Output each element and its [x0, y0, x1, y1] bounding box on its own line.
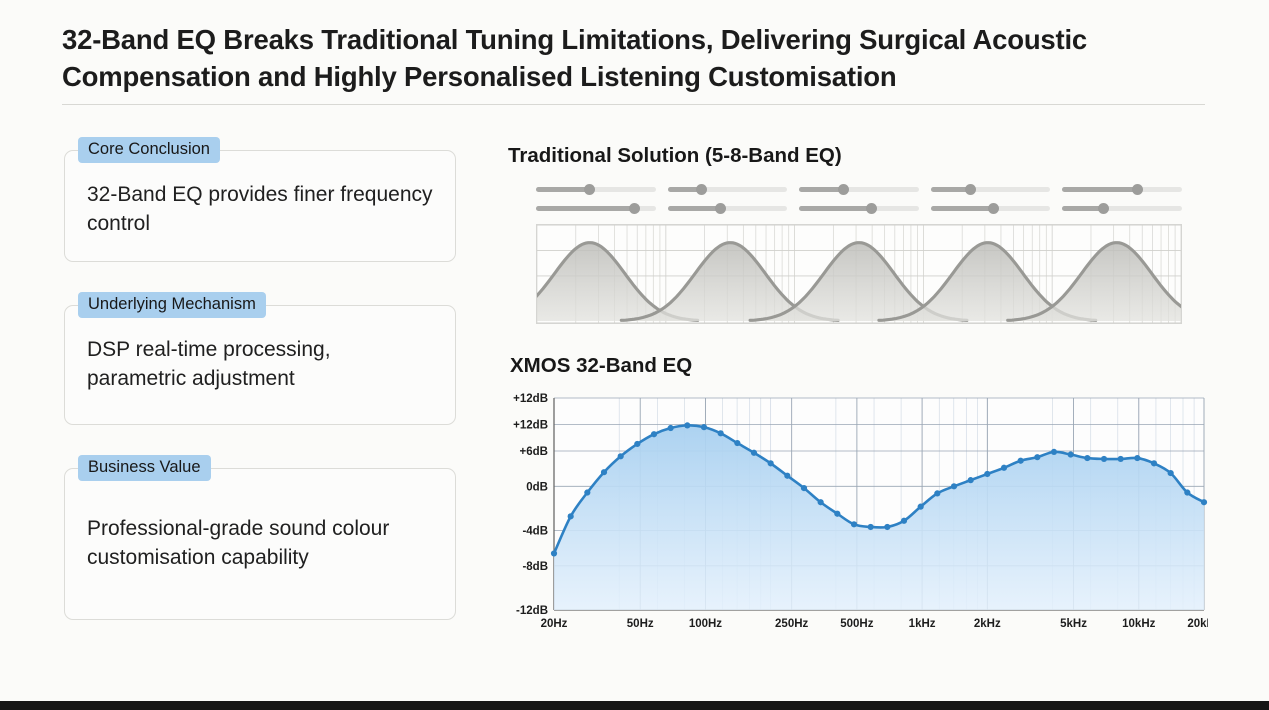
eq-slider-4-top[interactable] [931, 186, 1051, 193]
slider-fill [668, 206, 721, 211]
card-body-business-value: Professional-grade sound colour customis… [64, 468, 456, 620]
eq-band-point-19[interactable] [851, 521, 857, 527]
slide-root: 32-Band EQ Breaks Traditional Tuning Lim… [0, 0, 1269, 710]
card-body-core-conclusion: 32-Band EQ provides finer frequency cont… [64, 150, 456, 262]
eq-band-point-15[interactable] [784, 473, 790, 479]
page-title: 32-Band EQ Breaks Traditional Tuning Lim… [62, 22, 1202, 95]
eq-slider-5-bottom[interactable] [1062, 205, 1182, 212]
y-axis-tick-3: 0dB [526, 481, 548, 493]
slider-thumb[interactable] [715, 203, 726, 214]
slider-thumb[interactable] [1132, 184, 1143, 195]
eq-band-point-28[interactable] [1001, 465, 1007, 471]
slider-fill [1062, 187, 1136, 192]
eq-band-point-14[interactable] [768, 460, 774, 466]
slider-fill [931, 206, 993, 211]
eq-band-point-23[interactable] [918, 504, 924, 510]
card-text-core-conclusion: 32-Band EQ provides finer frequency cont… [87, 181, 433, 239]
eq-band-point-3[interactable] [584, 489, 590, 495]
card-body-underlying-mechanism: DSP real-time processing, parametric adj… [64, 305, 456, 425]
eq-band-point-1[interactable] [551, 550, 557, 556]
y-axis-tick-0: +12dB [513, 393, 548, 405]
eq-band-point-37[interactable] [1151, 460, 1157, 466]
x-axis-tick-6: 2kHz [974, 618, 1001, 630]
y-axis-tick-4: -4dB [522, 526, 548, 538]
eq-slider-rack [508, 186, 1208, 212]
x-axis-tick-2: 100Hz [689, 618, 722, 630]
eq-band-point-22[interactable] [901, 518, 907, 524]
eq-band-point-32[interactable] [1068, 451, 1074, 457]
xmos-eq-chart-svg: +12dB+12dB+6dB0dB-4dB-8dB-12dB20Hz50Hz10… [508, 390, 1208, 640]
eq-slider-group-2 [668, 186, 788, 212]
eq-band-point-25[interactable] [951, 483, 957, 489]
xmos-eq-title: XMOS 32-Band EQ [508, 354, 1208, 378]
slider-thumb[interactable] [629, 203, 640, 214]
y-axis-tick-6: -12dB [516, 605, 548, 617]
slider-thumb[interactable] [584, 184, 595, 195]
eq-slider-3-top[interactable] [799, 186, 919, 193]
eq-band-point-12[interactable] [734, 440, 740, 446]
slider-thumb[interactable] [965, 184, 976, 195]
x-axis-tick-5: 1kHz [909, 618, 936, 630]
card-badge-core-conclusion: Core Conclusion [78, 137, 220, 163]
eq-band-point-38[interactable] [1168, 470, 1174, 476]
y-axis-tick-2: +6dB [520, 446, 548, 458]
eq-band-point-33[interactable] [1084, 455, 1090, 461]
eq-band-point-35[interactable] [1118, 456, 1124, 462]
eq-band-point-11[interactable] [718, 430, 724, 436]
eq-band-point-36[interactable] [1134, 455, 1140, 461]
card-business-value: Business Value Professional-grade sound … [64, 468, 456, 620]
eq-band-point-39[interactable] [1184, 489, 1190, 495]
eq-band-point-6[interactable] [634, 441, 640, 447]
eq-slider-2-top[interactable] [668, 186, 788, 193]
title-divider [62, 104, 1205, 105]
eq-band-point-9[interactable] [684, 422, 690, 428]
eq-band-point-10[interactable] [701, 424, 707, 430]
traditional-eq-curve-chart [536, 224, 1182, 324]
xmos-eq-chart: +12dB+12dB+6dB0dB-4dB-8dB-12dB20Hz50Hz10… [508, 390, 1208, 640]
y-axis-tick-5: -8dB [522, 561, 548, 573]
slider-thumb[interactable] [866, 203, 877, 214]
eq-band-point-8[interactable] [668, 425, 674, 431]
eq-band-point-40[interactable] [1201, 499, 1207, 505]
eq-band-point-5[interactable] [618, 453, 624, 459]
card-core-conclusion: Core Conclusion 32-Band EQ provides fine… [64, 150, 456, 262]
eq-band-point-24[interactable] [934, 490, 940, 496]
card-badge-business-value: Business Value [78, 455, 211, 481]
eq-band-point-29[interactable] [1018, 458, 1024, 464]
x-axis-tick-0: 20Hz [541, 618, 568, 630]
eq-slider-group-3 [799, 186, 919, 212]
xmos-eq-section: XMOS 32-Band EQ +12dB+12dB+6dB0dB-4dB-8d… [508, 354, 1208, 640]
eq-band-point-17[interactable] [818, 499, 824, 505]
slider-fill [799, 187, 843, 192]
eq-band-point-7[interactable] [651, 431, 657, 437]
eq-band-point-18[interactable] [834, 511, 840, 517]
slider-thumb[interactable] [838, 184, 849, 195]
eq-band-point-20[interactable] [868, 524, 874, 530]
eq-slider-group-5 [1062, 186, 1182, 212]
eq-slider-3-bottom[interactable] [799, 205, 919, 212]
title-block: 32-Band EQ Breaks Traditional Tuning Lim… [62, 22, 1202, 95]
footer-padding [0, 687, 1269, 701]
y-axis-tick-1: +12dB [513, 420, 548, 432]
footer-bar [0, 701, 1269, 710]
eq-slider-group-1 [536, 186, 656, 212]
x-axis-tick-7: 5kHz [1060, 618, 1087, 630]
eq-band-point-21[interactable] [884, 524, 890, 530]
traditional-solution-title: Traditional Solution (5-8-Band EQ) [508, 144, 1208, 168]
traditional-eq-curve-svg [537, 225, 1181, 323]
eq-band-point-30[interactable] [1034, 454, 1040, 460]
eq-slider-4-bottom[interactable] [931, 205, 1051, 212]
x-axis-tick-3: 250Hz [775, 618, 808, 630]
eq-band-point-4[interactable] [601, 469, 607, 475]
eq-band-point-34[interactable] [1101, 456, 1107, 462]
slider-fill [799, 206, 871, 211]
eq-slider-group-4 [931, 186, 1051, 212]
slider-thumb[interactable] [696, 184, 707, 195]
slider-fill [1062, 206, 1103, 211]
card-text-underlying-mechanism: DSP real-time processing, parametric adj… [87, 336, 433, 394]
x-axis-tick-4: 500Hz [840, 618, 873, 630]
eq-band-point-13[interactable] [751, 450, 757, 456]
card-underlying-mechanism: Underlying Mechanism DSP real-time proce… [64, 305, 456, 425]
card-text-business-value: Professional-grade sound colour customis… [87, 515, 433, 573]
eq-band-point-27[interactable] [984, 471, 990, 477]
x-axis-tick-1: 50Hz [627, 618, 654, 630]
eq-band-point-2[interactable] [568, 513, 574, 519]
right-column: Traditional Solution (5-8-Band EQ) XMOS … [508, 144, 1208, 640]
slider-fill [536, 187, 589, 192]
x-axis-tick-8: 10kHz [1122, 618, 1155, 630]
eq-band-point-16[interactable] [801, 485, 807, 491]
slider-fill [536, 206, 634, 211]
eq-slider-2-bottom[interactable] [668, 205, 788, 212]
x-axis-tick-9: 20kHz [1187, 618, 1208, 630]
slider-thumb[interactable] [988, 203, 999, 214]
eq-slider-1-top[interactable] [536, 186, 656, 193]
eq-slider-1-bottom[interactable] [536, 205, 656, 212]
eq-slider-5-top[interactable] [1062, 186, 1182, 193]
slider-thumb[interactable] [1098, 203, 1109, 214]
eq-band-point-31[interactable] [1051, 449, 1057, 455]
eq-band-point-26[interactable] [968, 477, 974, 483]
card-badge-underlying-mechanism: Underlying Mechanism [78, 292, 266, 318]
conclusion-card-list: Core Conclusion 32-Band EQ provides fine… [64, 150, 456, 620]
